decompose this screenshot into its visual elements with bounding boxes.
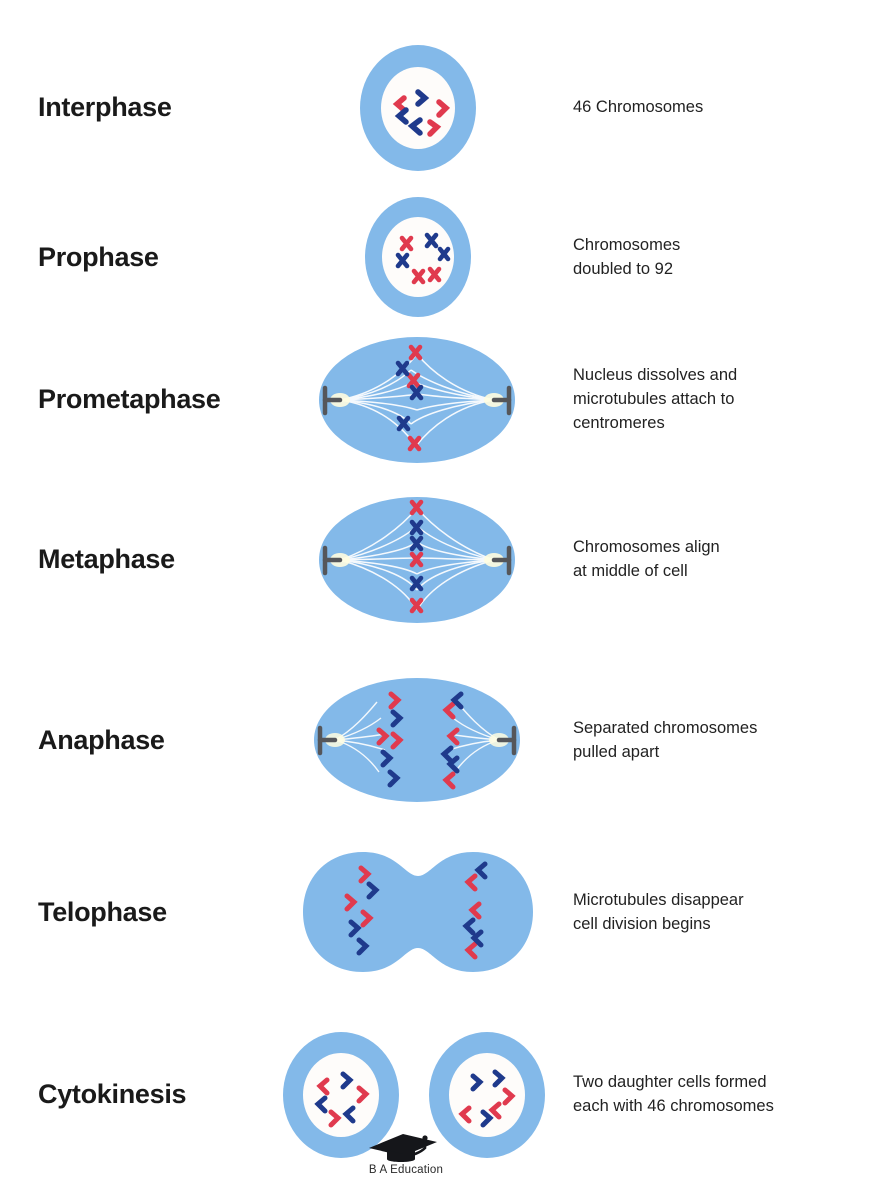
phase-desc-anaphase: Separated chromosomes pulled apart (565, 717, 880, 765)
phase-row-prophase: Prophase (0, 190, 880, 325)
phase-figure-prophase (270, 190, 565, 325)
phase-desc-cytokinesis: Two daughter cells formed each with 46 c… (565, 1071, 880, 1119)
phase-row-interphase: Interphase 46 Chromosomes (0, 38, 880, 178)
phase-row-telophase: Telophase (0, 840, 880, 985)
phase-label-cytokinesis: Cytokinesis (0, 1080, 270, 1110)
phase-figure-telophase (270, 840, 565, 985)
phase-label-interphase: Interphase (0, 93, 270, 123)
desc-line: Chromosomes (573, 234, 860, 258)
phase-figure-metaphase (270, 490, 565, 630)
phase-figure-prometaphase (270, 330, 565, 470)
phase-row-prometaphase: Prometaphase (0, 330, 880, 470)
phase-desc-telophase: Microtubules disappear cell division beg… (565, 889, 880, 937)
phase-desc-metaphase: Chromosomes align at middle of cell (565, 536, 880, 584)
prometaphase-cell-icon (310, 330, 525, 470)
desc-line: Two daughter cells formed (573, 1071, 860, 1095)
phase-desc-interphase: 46 Chromosomes (565, 96, 880, 120)
phase-label-metaphase: Metaphase (0, 545, 270, 575)
phase-desc-prometaphase: Nucleus dissolves and microtubules attac… (565, 364, 880, 436)
phase-figure-anaphase (270, 668, 565, 813)
desc-line: Separated chromosomes (573, 717, 860, 741)
desc-line: cell division begins (573, 913, 860, 937)
watermark: B A Education (316, 1128, 496, 1190)
mitosis-diagram: Interphase 46 Chromosomes (0, 0, 880, 1200)
desc-line: pulled apart (573, 741, 860, 765)
phase-desc-prophase: Chromosomes doubled to 92 (565, 234, 880, 282)
desc-line: each with 46 chromosomes (573, 1095, 860, 1119)
desc-line: microtubules attach to (573, 388, 860, 412)
phase-row-metaphase: Metaphase (0, 490, 880, 630)
phase-label-anaphase: Anaphase (0, 726, 270, 756)
prophase-cell-icon (343, 190, 493, 325)
watermark-text: B A Education (369, 1164, 443, 1176)
desc-line: Chromosomes align (573, 536, 860, 560)
phase-figure-interphase (270, 38, 565, 178)
phase-label-prophase: Prophase (0, 243, 270, 273)
phase-label-prometaphase: Prometaphase (0, 385, 270, 415)
interphase-cell-icon (338, 38, 498, 178)
telophase-cell-icon (293, 840, 543, 985)
phase-row-anaphase: Anaphase (0, 668, 880, 813)
desc-line: centromeres (573, 412, 860, 436)
desc-line: 46 Chromosomes (573, 96, 860, 120)
graduation-cap-icon (363, 1128, 449, 1166)
desc-line: at middle of cell (573, 560, 860, 584)
desc-line: Microtubules disappear (573, 889, 860, 913)
phase-label-telophase: Telophase (0, 898, 270, 928)
desc-line: Nucleus dissolves and (573, 364, 860, 388)
anaphase-cell-icon (305, 668, 530, 813)
metaphase-cell-icon (310, 490, 525, 630)
desc-line: doubled to 92 (573, 258, 860, 282)
